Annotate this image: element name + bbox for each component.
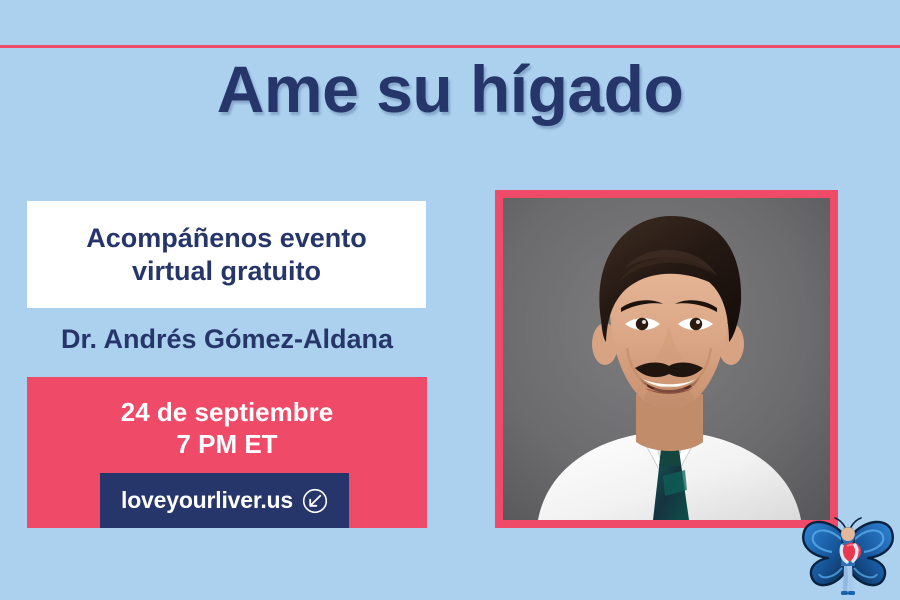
website-cta-button[interactable]: loveyourliver.us: [100, 473, 349, 528]
arrow-down-left-circle-icon: [302, 488, 328, 514]
event-time: 7 PM ET: [27, 428, 427, 460]
page-title: Ame su hígado: [0, 52, 900, 126]
invite-card: Acompáñenos evento virtual gratuito: [27, 201, 426, 308]
top-divider-rule: [0, 45, 900, 48]
event-details-card: 24 de septiembre 7 PM ET loveyourliver.u…: [27, 377, 427, 528]
invite-card-text: Acompáñenos evento virtual gratuito: [76, 222, 377, 288]
butterfly-liver-logo: [800, 512, 896, 600]
website-url-label: loveyourliver.us: [121, 487, 293, 514]
event-datetime: 24 de septiembre 7 PM ET: [27, 396, 427, 460]
invite-line-1: Acompáñenos evento: [86, 222, 367, 255]
poster-canvas: Ame su hígado Acompáñenos evento virtual…: [0, 0, 900, 600]
event-date: 24 de septiembre: [27, 396, 427, 428]
invite-line-2: virtual gratuito: [86, 255, 367, 288]
speaker-name: Dr. Andrés Gómez-Aldana: [27, 322, 427, 356]
speaker-portrait: [503, 198, 830, 520]
portrait-frame: [495, 190, 838, 528]
